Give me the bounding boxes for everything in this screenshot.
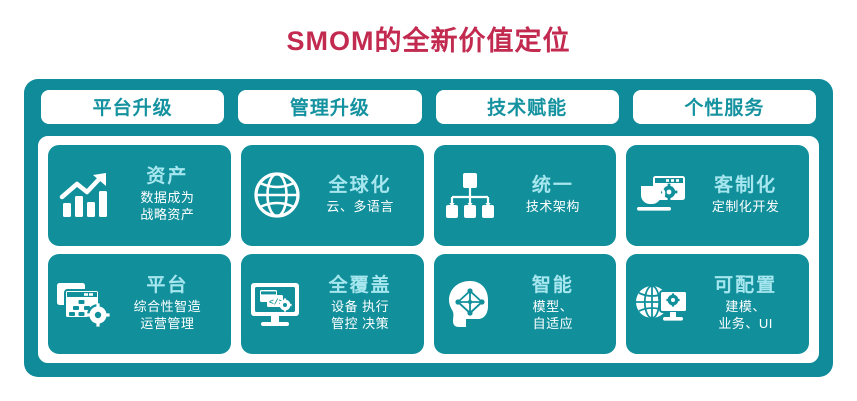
card-full-coverage[interactable]: </> bbox=[241, 254, 424, 355]
teal-frame: 平台升级 管理升级 技术赋能 个性服务 bbox=[24, 79, 833, 377]
card-globalization[interactable]: 全球化 云、多语言 bbox=[241, 145, 424, 246]
infographic-stage: SMOM的全新价值定位 平台升级 管理升级 技术赋能 个性服务 bbox=[0, 0, 857, 401]
card-title: 智能 bbox=[532, 275, 574, 297]
tab-strip: 平台升级 管理升级 技术赋能 个性服务 bbox=[24, 79, 833, 134]
hierarchy-icon bbox=[442, 167, 498, 223]
card-subtitle: 模型、 自适应 bbox=[533, 299, 574, 333]
tab-personalized-service[interactable]: 个性服务 bbox=[633, 90, 816, 124]
tab-management-upgrade[interactable]: 管理升级 bbox=[238, 90, 421, 124]
card-platform[interactable]: 平台 综合性智造 运营管理 bbox=[48, 254, 231, 355]
card-title: 可配置 bbox=[714, 275, 777, 297]
windows-gear-icon bbox=[56, 276, 112, 332]
cards-panel: 资产 数据成为 战略资产 bbox=[36, 134, 821, 365]
card-intelligence[interactable]: 智能 模型、 自适应 bbox=[434, 254, 617, 355]
globe-icon bbox=[249, 167, 305, 223]
card-title: 客制化 bbox=[714, 175, 777, 197]
card-subtitle: 技术架构 bbox=[526, 199, 580, 216]
ai-head-icon bbox=[442, 276, 498, 332]
bar-chart-arrow-icon bbox=[56, 167, 112, 223]
card-text: 智能 模型、 自适应 bbox=[498, 275, 611, 333]
card-text: 统一 技术架构 bbox=[498, 175, 611, 216]
card-title: 全球化 bbox=[329, 175, 392, 197]
cup-monitor-gear-icon bbox=[634, 167, 690, 223]
card-customization[interactable]: 客制化 定制化开发 bbox=[626, 145, 809, 246]
card-row: 平台 综合性智造 运营管理 bbox=[48, 254, 809, 355]
card-text: 全球化 云、多语言 bbox=[305, 175, 418, 216]
card-subtitle: 定制化开发 bbox=[712, 199, 780, 216]
tab-technology-enablement[interactable]: 技术赋能 bbox=[436, 90, 619, 124]
card-title: 资产 bbox=[146, 166, 188, 188]
tab-platform-upgrade[interactable]: 平台升级 bbox=[41, 90, 224, 124]
card-title: 全覆盖 bbox=[329, 275, 392, 297]
card-configurable[interactable]: 可配置 建模、 业务、UI bbox=[626, 254, 809, 355]
card-text: 平台 综合性智造 运营管理 bbox=[112, 275, 225, 333]
globe-monitor-icon bbox=[634, 276, 690, 332]
card-subtitle: 云、多语言 bbox=[326, 199, 394, 216]
card-text: 全覆盖 设备 执行 管控 决策 bbox=[305, 275, 418, 333]
card-subtitle: 数据成为 战略资产 bbox=[140, 190, 194, 224]
card-asset[interactable]: 资产 数据成为 战略资产 bbox=[48, 145, 231, 246]
card-subtitle: 建模、 业务、UI bbox=[718, 299, 773, 333]
card-title: 统一 bbox=[532, 175, 574, 197]
monitor-code-icon: </> bbox=[249, 276, 305, 332]
card-text: 客制化 定制化开发 bbox=[690, 175, 803, 216]
card-text: 可配置 建模、 业务、UI bbox=[690, 275, 803, 333]
card-subtitle: 综合性智造 运营管理 bbox=[134, 299, 202, 333]
page-title: SMOM的全新价值定位 bbox=[0, 28, 857, 55]
card-title: 平台 bbox=[146, 275, 188, 297]
card-subtitle: 设备 执行 管控 决策 bbox=[331, 299, 389, 333]
card-text: 资产 数据成为 战略资产 bbox=[112, 166, 225, 224]
card-unified[interactable]: 统一 技术架构 bbox=[434, 145, 617, 246]
card-row: 资产 数据成为 战略资产 bbox=[48, 145, 809, 246]
